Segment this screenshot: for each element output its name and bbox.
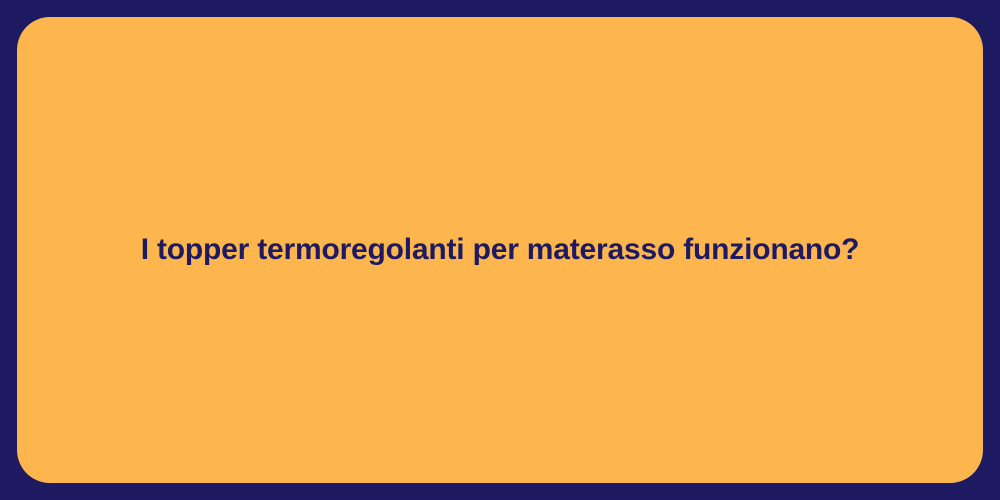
page-title: I topper termoregolanti per materasso fu… (141, 231, 860, 269)
card-frame: I topper termoregolanti per materasso fu… (0, 0, 1000, 500)
card-panel: I topper termoregolanti per materasso fu… (17, 17, 983, 483)
